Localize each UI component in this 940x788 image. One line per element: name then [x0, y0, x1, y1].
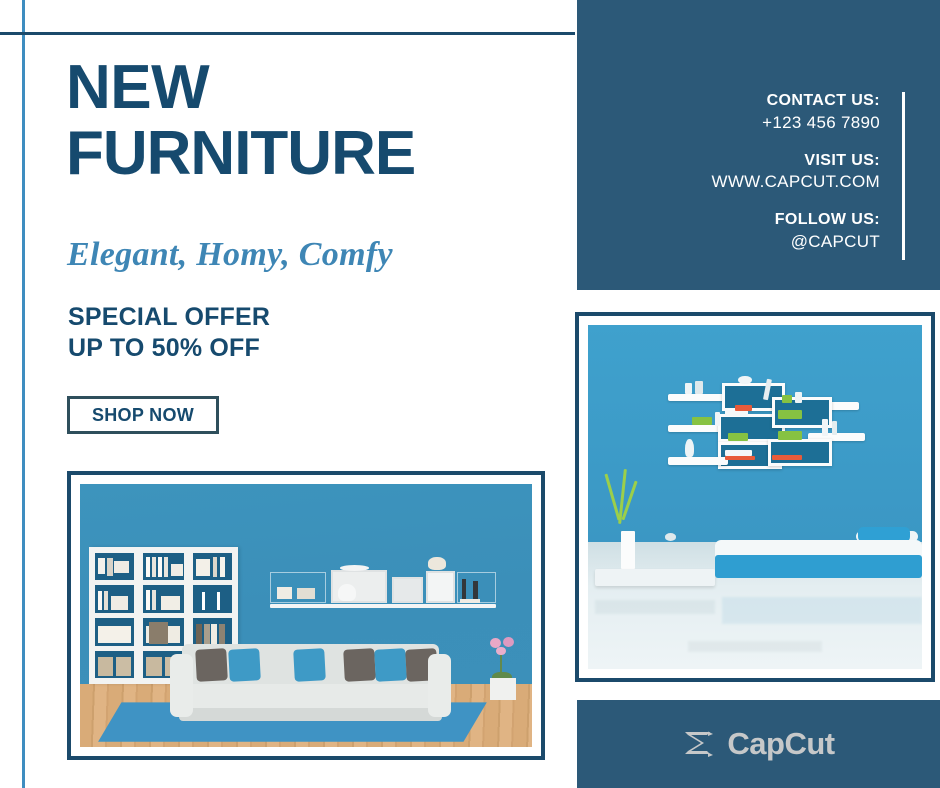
page-title: NEW FURNITURE — [66, 58, 566, 183]
capcut-wordmark: CapCut — [727, 726, 834, 762]
contact-label-social: FOLLOW US: — [580, 209, 880, 231]
capcut-hourglass-icon — [682, 730, 716, 758]
offer-line-2: UP TO 50% OFF — [68, 333, 270, 364]
contact-value-website[interactable]: WWW.CAPCUT.COM — [580, 171, 880, 194]
contact-label-website: VISIT US: — [580, 150, 880, 172]
shop-now-label: SHOP NOW — [92, 405, 194, 426]
contact-label-phone: CONTACT US: — [580, 90, 880, 112]
headline-line-1: NEW — [66, 53, 209, 122]
contact-group-phone: CONTACT US: +123 456 7890 — [580, 90, 880, 135]
living-room-photo-frame — [67, 471, 545, 760]
poster-canvas: NEW FURNITURE Elegant, Homy, Comfy SPECI… — [0, 0, 940, 788]
vertical-accent-rule — [22, 0, 25, 788]
contact-info: CONTACT US: +123 456 7890 VISIT US: WWW.… — [580, 90, 880, 254]
contact-value-social[interactable]: @CAPCUT — [580, 231, 880, 254]
horizontal-accent-rule — [0, 32, 575, 35]
living-room-photo — [80, 484, 532, 747]
contact-group-website: VISIT US: WWW.CAPCUT.COM — [580, 150, 880, 195]
special-offer-text: SPECIAL OFFER UP TO 50% OFF — [68, 302, 270, 364]
headline-line-2: FURNITURE — [66, 124, 566, 184]
contact-group-social: FOLLOW US: @CAPCUT — [580, 209, 880, 254]
contact-divider-rule — [902, 92, 905, 260]
tagline: Elegant, Homy, Comfy — [67, 236, 393, 274]
offer-line-1: SPECIAL OFFER — [68, 302, 270, 333]
bedroom-photo — [588, 325, 922, 669]
capcut-logo: CapCut — [577, 700, 940, 788]
contact-value-phone[interactable]: +123 456 7890 — [580, 112, 880, 135]
shop-now-button[interactable]: SHOP NOW — [67, 396, 219, 434]
bedroom-photo-frame — [575, 312, 935, 682]
